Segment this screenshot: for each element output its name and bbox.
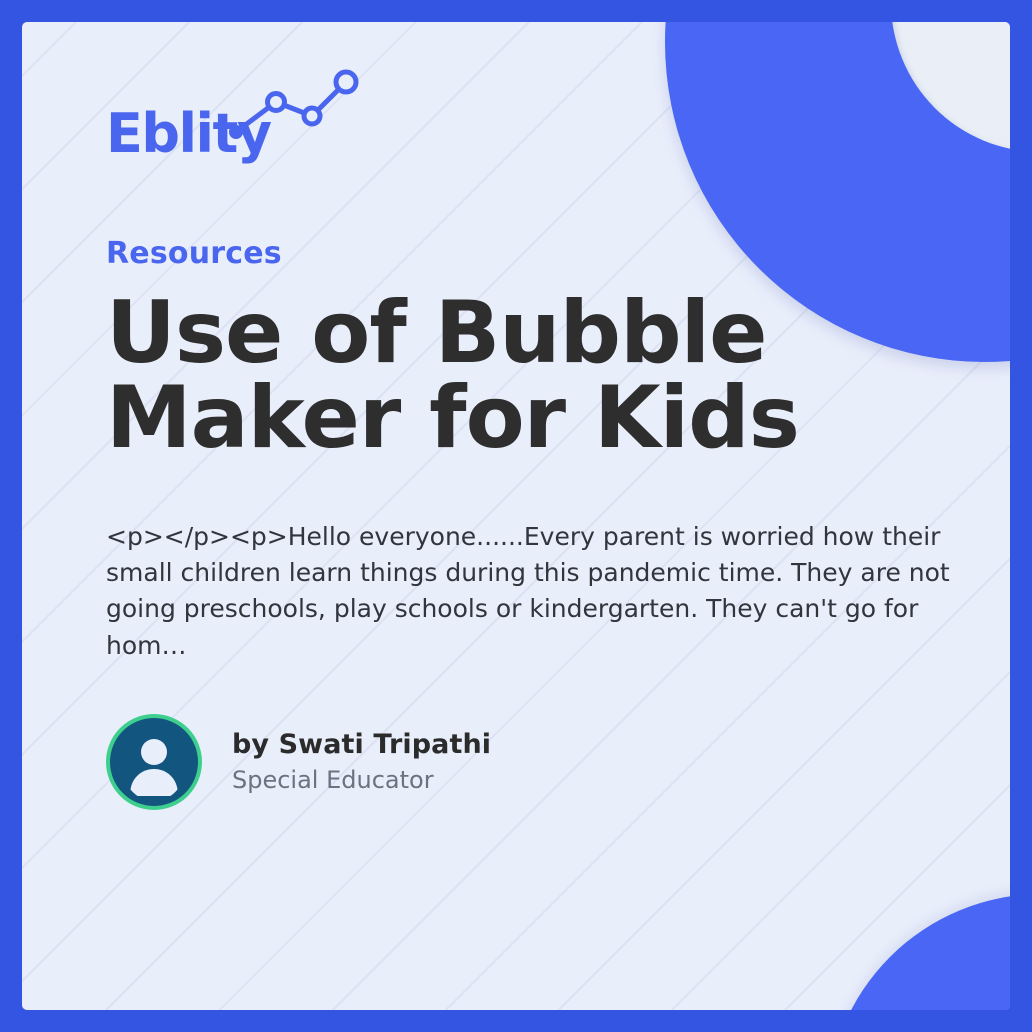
content-card: Eblity Resources Use of Bubble Maker for… bbox=[22, 22, 1010, 1010]
brand-name: Eblity bbox=[106, 102, 271, 165]
author-role: Special Educator bbox=[232, 766, 491, 794]
author-meta: by Swati Tripathi Special Educator bbox=[232, 729, 491, 794]
poster-card: Eblity Resources Use of Bubble Maker for… bbox=[0, 0, 1032, 1032]
poster-content: Eblity Resources Use of Bubble Maker for… bbox=[106, 60, 990, 810]
decorative-circle-bottom-right bbox=[827, 894, 1010, 1010]
article-description: <p></p><p>Hello everyone......Every pare… bbox=[106, 519, 990, 664]
user-avatar-icon bbox=[120, 728, 188, 796]
avatar bbox=[106, 714, 202, 810]
author-block[interactable]: by Swati Tripathi Special Educator bbox=[106, 714, 990, 810]
page-title: Use of Bubble Maker for Kids bbox=[106, 291, 846, 461]
author-name: by Swati Tripathi bbox=[232, 729, 491, 760]
brand-logo[interactable]: Eblity bbox=[106, 60, 366, 170]
article-category[interactable]: Resources bbox=[106, 236, 990, 271]
